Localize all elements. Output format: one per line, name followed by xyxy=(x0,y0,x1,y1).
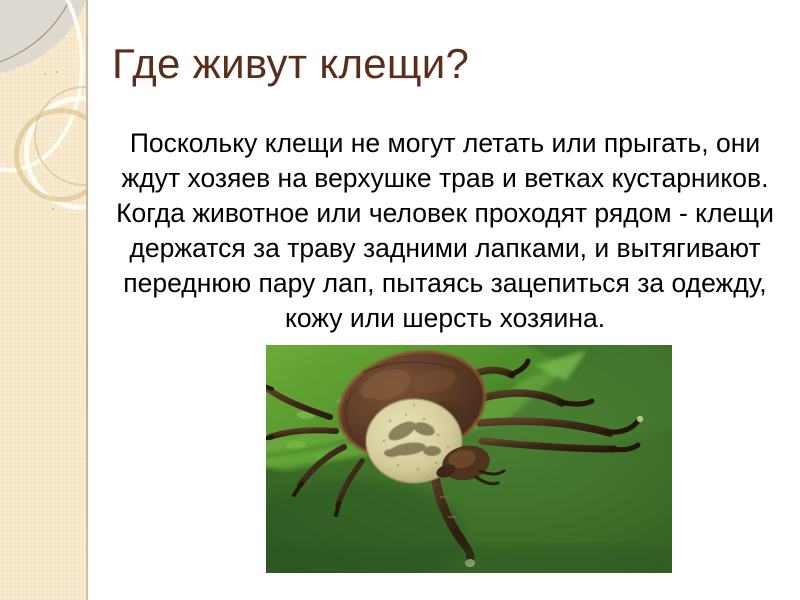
sidebar-dot-3 xyxy=(52,208,54,210)
slide-body-text: Поскольку клещи не могут летать или прыг… xyxy=(112,126,778,336)
sidebar-dot-2 xyxy=(56,71,58,73)
sidebar-dot-1 xyxy=(44,73,46,75)
slide-title: Где живут клещи? xyxy=(112,38,772,90)
tick-photo xyxy=(266,345,672,573)
slide-canvas: Где живут клещи? Поскольку клещи не могу… xyxy=(0,0,800,600)
sidebar-right-edge xyxy=(86,0,88,600)
tick-on-leaf-illustration xyxy=(266,345,672,573)
decorative-sidebar xyxy=(0,0,88,600)
